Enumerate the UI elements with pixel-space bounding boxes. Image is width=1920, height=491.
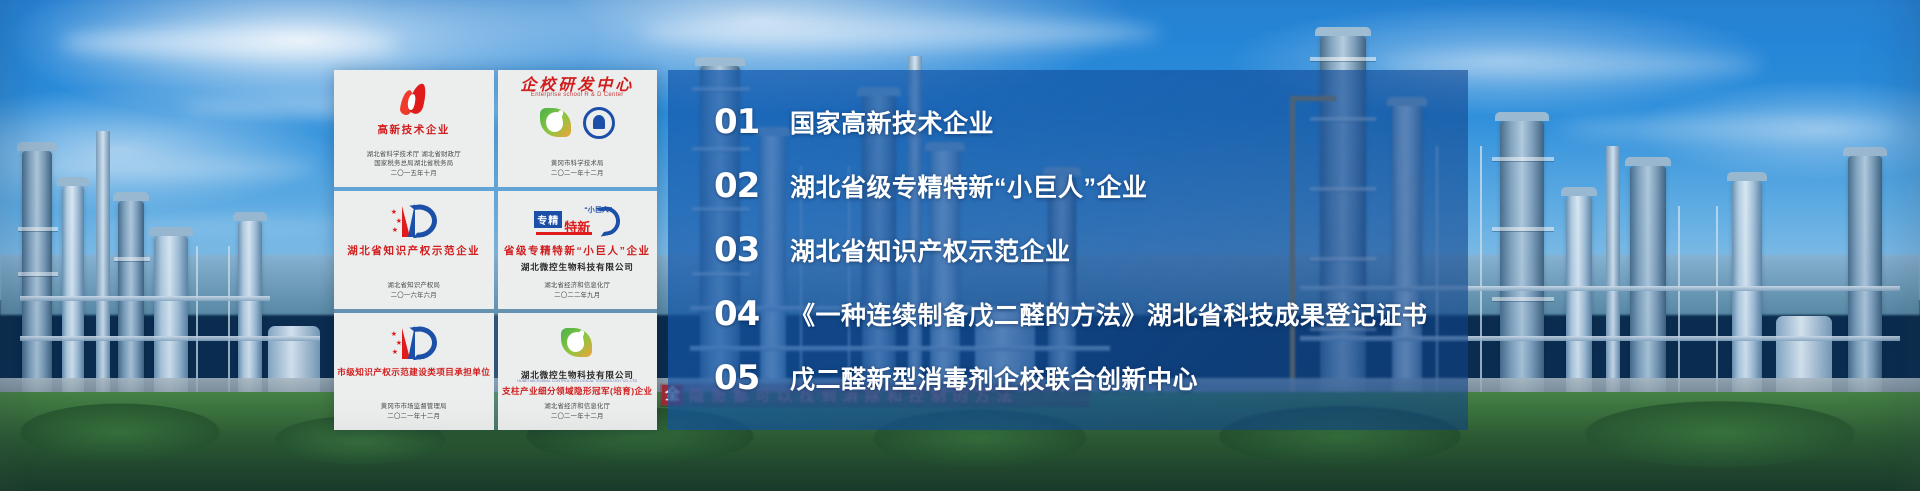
certificate-meta: 湖北省经济和信息化厅二〇二一年十二月 [544, 402, 610, 425]
qualification-item[interactable]: 01 国家高新技术企业 [714, 90, 1468, 154]
qualification-item[interactable]: 05 戊二醛新型消毒剂企校联合创新中心 [714, 346, 1468, 410]
certificate-meta: 黄冈市科学技术局二〇二一年十二月 [551, 159, 604, 182]
certificate-card[interactable]: 湖北微控生物科技有限公司 HUBEI MICROBIAL CONTROL BIO… [498, 313, 658, 430]
university-seal-icon [583, 107, 615, 139]
qualification-item[interactable]: 03 湖北省知识产权示范企业 [714, 218, 1468, 282]
banner-root: 全 隐患都可以找到消除和控制的方法 高新技术企业 湖北省科学技术厅 湖北省财政厅… [0, 0, 1920, 491]
certificate-title: 高新技术企业 [377, 124, 450, 138]
qualification-panel: 01 国家高新技术企业 02 湖北省级专精特新“小巨人”企业 03 湖北省知识产… [668, 70, 1468, 430]
qualification-label: 湖北省知识产权示范企业 [790, 232, 1071, 268]
qualification-label: 湖北省级专精特新“小巨人”企业 [790, 168, 1148, 204]
certificate-company: 湖北微控生物科技有限公司 [521, 261, 634, 273]
certificate-meta: 湖北省科学技术厅 湖北省财政厅国家税务总局湖北省税务局二〇一五年十月 [367, 150, 461, 183]
leaf-icon [539, 107, 573, 139]
flame-icon [398, 78, 430, 122]
certificate-meta: 黄冈市市场监督管理局二〇二一年十二月 [381, 402, 447, 425]
leaf-icon [560, 321, 594, 365]
qualification-label: 国家高新技术企业 [790, 104, 994, 140]
certificate-company-en: HUBEI MICROBIAL CONTROL BIOLOGICAL TECHN… [517, 379, 637, 383]
qualification-number: 03 [714, 233, 790, 267]
zjtx-icon: “小巨人” 专精特新 [534, 199, 620, 243]
ip-sail-icon: ★ ★ ★ [391, 321, 437, 365]
certificate-title: 市级知识产权示范建设类项目承担单位 [337, 367, 490, 378]
ip-sail-icon: ★ ★ ★ [391, 199, 437, 243]
certificate-card[interactable]: 企校研发中心 Enterprise school R & D Center 黄冈… [498, 70, 658, 187]
qualification-item[interactable]: 04 《一种连续制备戊二醛的方法》湖北省科技成果登记证书 [714, 282, 1468, 346]
qualification-number: 05 [714, 361, 790, 395]
certificate-card[interactable]: ★ ★ ★ 市级知识产权示范建设类项目承担单位 黄冈市市场监督管理局二〇二一年十… [334, 313, 494, 430]
certificate-meta: 湖北省经济和信息化厅二〇二二年九月 [544, 281, 610, 304]
certificate-card[interactable]: “小巨人” 专精特新 省级专精特新“小巨人”企业 湖北微控生物科技有限公司 湖北… [498, 191, 658, 308]
certificate-title: 支柱产业细分领域隐形冠军(培育)企业 [502, 386, 652, 397]
qualification-number: 02 [714, 169, 790, 203]
certificate-title: 省级专精特新“小巨人”企业 [504, 245, 651, 259]
certificate-card[interactable]: ★ ★ ★ 湖北省知识产权示范企业 湖北省知识产权局二〇一六年六月 [334, 191, 494, 308]
qualification-label: 《一种连续制备戊二醛的方法》湖北省科技成果登记证书 [790, 296, 1428, 332]
qualification-item[interactable]: 02 湖北省级专精特新“小巨人”企业 [714, 154, 1468, 218]
partner-logos [539, 101, 615, 145]
qualification-number: 01 [714, 105, 790, 139]
qualification-label: 戊二醛新型消毒剂企校联合创新中心 [790, 360, 1198, 396]
certificate-card[interactable]: 高新技术企业 湖北省科学技术厅 湖北省财政厅国家税务总局湖北省税务局二〇一五年十… [334, 70, 494, 187]
certificate-grid: 高新技术企业 湖北省科学技术厅 湖北省财政厅国家税务总局湖北省税务局二〇一五年十… [334, 70, 657, 430]
certificate-title: 湖北省知识产权示范企业 [347, 245, 480, 259]
qualification-number: 04 [714, 297, 790, 331]
certificate-subtitle-en: Enterprise school R & D Center [531, 92, 624, 98]
certificate-meta: 湖北省知识产权局二〇一六年六月 [387, 281, 440, 304]
